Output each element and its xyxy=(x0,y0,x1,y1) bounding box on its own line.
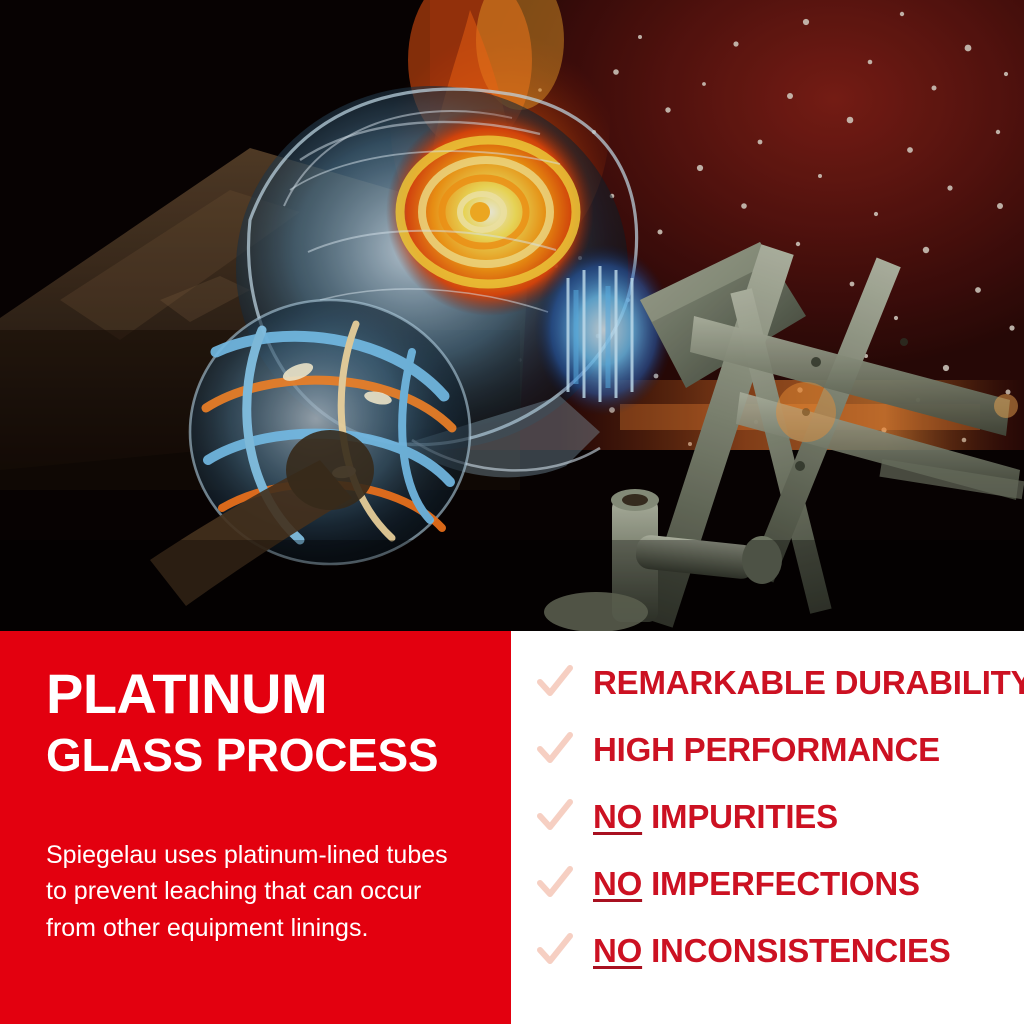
list-item: NO IMPERFECTIONS xyxy=(535,860,920,906)
benefit-label: NO IMPURITIES xyxy=(593,800,838,833)
benefit-text: IMPERFECTIONS xyxy=(642,865,920,902)
benefit-negation: NO xyxy=(593,798,642,835)
check-icon xyxy=(535,729,575,769)
glassblowing-photo xyxy=(0,0,1024,632)
benefit-label: NO INCONSISTENCIES xyxy=(593,934,951,967)
check-icon xyxy=(535,662,575,702)
page-subtitle: GLASS PROCESS xyxy=(46,732,438,778)
list-item: NO INCONSISTENCIES xyxy=(535,927,951,973)
benefit-text: REMARKABLE DURABILITY xyxy=(593,664,1024,701)
benefit-label: REMARKABLE DURABILITY xyxy=(593,666,1024,699)
benefit-text: HIGH PERFORMANCE xyxy=(593,731,940,768)
page-title: PLATINUM xyxy=(46,666,327,722)
benefit-text: IMPURITIES xyxy=(642,798,838,835)
body-copy: Spiegelau uses platinum-lined tubes to p… xyxy=(46,837,486,946)
body-copy-line-2: to prevent leaching that can occur xyxy=(46,873,486,909)
benefit-text: INCONSISTENCIES xyxy=(642,932,951,969)
benefit-label: HIGH PERFORMANCE xyxy=(593,733,940,766)
benefit-negation: NO xyxy=(593,932,642,969)
list-item: NO IMPURITIES xyxy=(535,793,838,839)
list-item: REMARKABLE DURABILITY xyxy=(535,659,1024,705)
benefit-label: NO IMPERFECTIONS xyxy=(593,867,920,900)
check-icon xyxy=(535,863,575,903)
poster-root: PLATINUM GLASS PROCESS Spiegelau uses pl… xyxy=(0,0,1024,1024)
benefits-panel: REMARKABLE DURABILITY HIGH PERFORMANCE N… xyxy=(511,631,1024,1024)
glassblowing-photo-artwork xyxy=(0,0,1024,632)
body-copy-line-3: from other equipment linings. xyxy=(46,910,486,946)
body-copy-line-1: Spiegelau uses platinum-lined tubes xyxy=(46,837,486,873)
benefit-negation: NO xyxy=(593,865,642,902)
red-info-panel: PLATINUM GLASS PROCESS Spiegelau uses pl… xyxy=(0,631,511,1024)
check-icon xyxy=(535,930,575,970)
benefits-list: REMARKABLE DURABILITY HIGH PERFORMANCE N… xyxy=(511,631,1024,1024)
check-icon xyxy=(535,796,575,836)
list-item: HIGH PERFORMANCE xyxy=(535,726,940,772)
